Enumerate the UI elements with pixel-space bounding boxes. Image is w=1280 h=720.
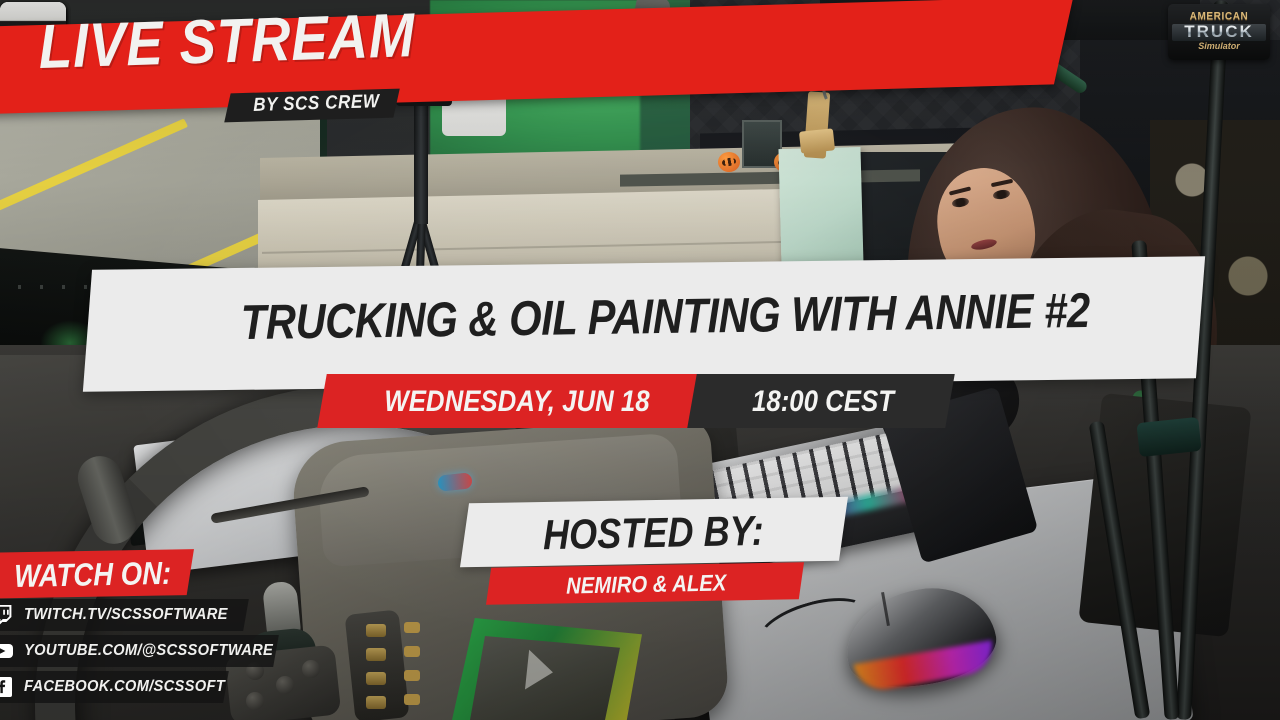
facebook-icon bbox=[0, 675, 14, 699]
hosts-names: NEMIRO & ALEX bbox=[518, 568, 775, 600]
twitch-url: TWITCH.TV/SCSSOFTWARE bbox=[24, 606, 228, 624]
watch-on-heading: WATCH ON: bbox=[14, 555, 171, 594]
wheel-button bbox=[276, 676, 294, 694]
wheel-key bbox=[366, 696, 386, 709]
wheel-arrow-marking bbox=[525, 650, 555, 692]
channel-facebook[interactable]: FACEBOOK.COM/SCSSOFT bbox=[0, 671, 229, 703]
wheel-key bbox=[366, 648, 386, 661]
event-time: 18:00 CEST bbox=[728, 385, 917, 419]
pole-clamp bbox=[1136, 417, 1201, 457]
logo-line-truck: TRUCK bbox=[1176, 23, 1262, 41]
tripod-column bbox=[414, 104, 428, 224]
wheel-button bbox=[302, 660, 320, 678]
painting-canvas bbox=[778, 147, 863, 267]
pumpkin-decoration bbox=[718, 152, 740, 172]
youtube-url: YOUTUBE.COM/@SCSSOFTWARE bbox=[24, 642, 273, 660]
wheel-key bbox=[366, 624, 386, 637]
livestream-announcement-graphic: LIVE STREAM BY SCS CREW TRUCKING & OIL P… bbox=[0, 0, 1280, 720]
wheel-key bbox=[404, 670, 420, 681]
live-stream-label: LIVE STREAM bbox=[38, 5, 416, 79]
wheel-key bbox=[404, 694, 420, 705]
event-date: WEDNESDAY, JUN 18 bbox=[375, 385, 659, 419]
wheel-key bbox=[404, 646, 420, 657]
youtube-icon bbox=[0, 639, 14, 663]
facebook-url: FACEBOOK.COM/SCSSOFT bbox=[24, 678, 225, 696]
channel-youtube[interactable]: YOUTUBE.COM/@SCSSOFTWARE bbox=[0, 635, 279, 667]
twitch-icon bbox=[0, 603, 14, 627]
lane-marking bbox=[0, 118, 188, 220]
hosted-by-heading: HOSTED BY: bbox=[503, 505, 805, 561]
wheel-key bbox=[404, 622, 420, 633]
wheel-button bbox=[246, 692, 264, 710]
wheel-key bbox=[366, 672, 386, 685]
logo-line-simulator: Simulator bbox=[1176, 41, 1262, 51]
crew-label: BY SCS CREW bbox=[253, 91, 380, 117]
easel-clip bbox=[799, 128, 835, 153]
channel-twitch[interactable]: TWITCH.TV/SCSSOFTWARE bbox=[0, 599, 249, 631]
logo-line-american: AMERICAN bbox=[1176, 10, 1262, 22]
